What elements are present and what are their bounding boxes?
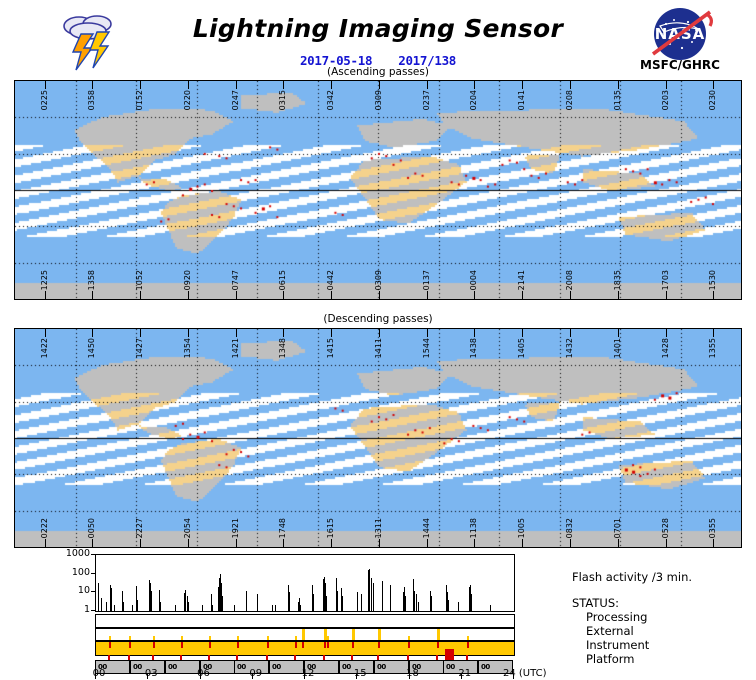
flash-activity-bar xyxy=(257,594,258,611)
descending-top-tick xyxy=(570,329,571,337)
y-axis-tick-label: 100 xyxy=(50,567,90,578)
external-status-spike xyxy=(209,636,211,640)
x-axis-tick-label: 15 xyxy=(347,668,373,679)
descending-top-label: 1355 xyxy=(709,338,717,358)
flash-activity-bar xyxy=(371,578,372,611)
ascending-bottom-label: 1530 xyxy=(709,270,717,290)
external-status-spike xyxy=(237,636,239,640)
descending-bottom-label: 0528 xyxy=(662,518,670,538)
flash-activity-legend: Flash activity /3 min. xyxy=(572,570,692,584)
instrument-status-mark xyxy=(267,642,269,648)
ascending-bottom-label: 0137 xyxy=(423,270,431,290)
ascending-bottom-tick xyxy=(379,291,380,299)
ascending-bottom-label: 1225 xyxy=(41,270,49,290)
platform-event-marker xyxy=(323,655,325,660)
descending-bottom-tick xyxy=(331,539,332,547)
flash-activity-bar xyxy=(405,596,406,611)
ascending-top-tick xyxy=(331,81,332,89)
descending-bottom-tick xyxy=(570,539,571,547)
platform-event-marker xyxy=(180,655,182,660)
descending-top-tick xyxy=(236,329,237,337)
agency-label: MSFC/GHRC xyxy=(620,58,740,72)
descending-bottom-label: 2227 xyxy=(136,518,144,538)
flash-activity-bar xyxy=(300,605,301,611)
ascending-top-tick xyxy=(427,81,428,89)
legend-processing: Processing xyxy=(586,610,647,624)
descending-top-tick xyxy=(427,329,428,337)
flash-activity-bar xyxy=(188,602,189,611)
page-header: Lightning Imaging Sensor 2017-05-182017/… xyxy=(0,0,756,78)
ascending-top-label: 0247 xyxy=(232,90,240,110)
platform-event-marker xyxy=(407,655,409,660)
flash-activity-bar xyxy=(313,594,314,611)
descending-bottom-label: 1138 xyxy=(470,518,478,538)
external-status-spike xyxy=(181,636,183,640)
ascending-bottom-tick xyxy=(283,291,284,299)
flash-activity-bar xyxy=(123,602,124,611)
platform-event-marker xyxy=(236,655,238,660)
external-status-spike xyxy=(352,629,355,640)
platform-event-marker xyxy=(351,655,353,660)
descending-top-label: 1450 xyxy=(88,338,96,358)
flash-activity-bar xyxy=(202,605,203,611)
descending-top-tick xyxy=(474,329,475,337)
instrument-status-mark xyxy=(237,642,239,648)
descending-bottom-tick xyxy=(666,539,667,547)
ascending-top-label: 0230 xyxy=(709,90,717,110)
y-axis-tick-label: 1 xyxy=(50,604,90,615)
external-status-spike xyxy=(109,636,111,640)
instrument-status-mark xyxy=(181,642,183,648)
descending-bottom-tick xyxy=(283,539,284,547)
descending-bottom-label: 1444 xyxy=(423,518,431,538)
platform-event-marker xyxy=(466,655,468,660)
flash-activity-bar xyxy=(132,605,133,611)
ascending-top-tick xyxy=(379,81,380,89)
platform-event-marker xyxy=(128,655,130,660)
descending-bottom-label: 0701 xyxy=(614,518,622,538)
ascending-bottom-label: 2141 xyxy=(518,270,526,290)
flash-activity-bar xyxy=(234,605,235,611)
descending-bottom-label: 1311 xyxy=(375,518,383,538)
instrument-status-mark xyxy=(302,642,304,648)
flash-activity-bar xyxy=(289,592,290,611)
external-status-spike xyxy=(129,636,131,640)
ascending-bottom-tick xyxy=(427,291,428,299)
flash-activity-bar xyxy=(160,602,161,611)
descending-top-tick xyxy=(283,329,284,337)
descending-bottom-tick xyxy=(474,539,475,547)
ascending-top-label: 0225 xyxy=(41,90,49,110)
flash-activity-bar xyxy=(98,583,99,611)
platform-cell-label: 00 xyxy=(375,663,386,671)
flash-activity-bar xyxy=(175,605,176,611)
descending-top-tick xyxy=(45,329,46,337)
ascending-top-tick xyxy=(283,81,284,89)
ascending-top-tick xyxy=(236,81,237,89)
ascending-top-tick xyxy=(570,81,571,89)
descending-bottom-tick xyxy=(427,539,428,547)
descending-bottom-tick xyxy=(379,539,380,547)
flash-activity-bar xyxy=(326,596,327,611)
ascending-bottom-tick xyxy=(713,291,714,299)
flash-activity-bar xyxy=(106,602,107,611)
ascending-top-tick xyxy=(45,81,46,89)
map-ascending-passes[interactable]: 0225035801520220024703150342030902370204… xyxy=(14,80,742,300)
flash-activity-bar xyxy=(361,594,362,611)
instrument-status-mark xyxy=(352,642,354,648)
platform-event-marker xyxy=(208,655,210,660)
platform-major-event xyxy=(445,649,454,660)
flash-activity-panel: 1101001000 000000000000000000000000 0003… xyxy=(0,552,756,680)
descending-bottom-label: 1921 xyxy=(232,518,240,538)
platform-event-marker xyxy=(266,655,268,660)
ascending-bottom-label: 0309 xyxy=(375,270,383,290)
descending-top-label: 1415 xyxy=(327,338,335,358)
external-status-spike xyxy=(327,636,329,640)
instrument-status-mark xyxy=(467,642,469,648)
flash-activity-bar xyxy=(275,605,276,611)
descending-bottom-label: 1005 xyxy=(518,518,526,538)
descending-top-label: 1422 xyxy=(41,338,49,358)
status-row-external xyxy=(95,628,515,641)
flash-activity-bar xyxy=(416,594,417,611)
flash-activity-bar xyxy=(390,585,391,611)
instrument-status-mark xyxy=(109,642,111,648)
flash-activity-bar xyxy=(337,591,338,611)
flash-activity-bar xyxy=(111,588,112,611)
descending-bottom-label: 0832 xyxy=(566,518,574,538)
external-status-spike xyxy=(467,636,469,640)
flash-activity-bar xyxy=(471,594,472,611)
descending-top-label: 1421 xyxy=(232,338,240,358)
descending-bottom-label: 1748 xyxy=(279,518,287,538)
flash-activity-bar xyxy=(414,591,415,611)
ascending-top-label: 0237 xyxy=(423,90,431,110)
ascending-top-tick xyxy=(618,81,619,89)
x-axis-tick-label: 12 xyxy=(295,668,321,679)
ascending-bottom-label: 1703 xyxy=(662,270,670,290)
platform-event-marker xyxy=(108,655,110,660)
flash-activity-bar xyxy=(458,602,459,611)
x-axis-tick-label: 18 xyxy=(400,668,426,679)
ascending-bottom-label: 0920 xyxy=(184,270,192,290)
flash-activity-bar xyxy=(137,600,138,611)
ascending-bottom-tick xyxy=(45,291,46,299)
ascending-bottom-tick xyxy=(570,291,571,299)
ascending-top-label: 0315 xyxy=(279,90,287,110)
instrument-status-mark xyxy=(153,642,155,648)
ascending-top-tick xyxy=(140,81,141,89)
ascending-bottom-label: 0747 xyxy=(232,270,240,290)
flash-activity-bar xyxy=(151,591,152,611)
descending-bottom-tick xyxy=(618,539,619,547)
ascending-bottom-label: 1052 xyxy=(136,270,144,290)
ascending-top-label: 0141 xyxy=(518,90,526,110)
x-axis-tick-label: 21 xyxy=(452,668,478,679)
x-axis-tick-label: 00 xyxy=(86,668,112,679)
ascending-bottom-tick xyxy=(140,291,141,299)
ascending-top-tick xyxy=(522,81,523,89)
descending-bottom-tick xyxy=(188,539,189,547)
platform-event-marker xyxy=(436,655,438,660)
descending-bottom-tick xyxy=(236,539,237,547)
descending-top-label: 1405 xyxy=(518,338,526,358)
flash-activity-bar xyxy=(369,569,370,611)
flash-activity-bar xyxy=(101,598,102,611)
flash-activity-bar xyxy=(382,581,383,611)
flash-activity-bar xyxy=(212,605,213,611)
ascending-top-tick xyxy=(474,81,475,89)
flash-activity-bar xyxy=(114,605,115,611)
ascending-top-label: 0135 xyxy=(614,90,622,110)
descending-bottom-tick xyxy=(140,539,141,547)
platform-event-marker xyxy=(377,655,379,660)
ascending-bottom-tick xyxy=(522,291,523,299)
flash-activity-bar xyxy=(357,592,358,611)
ascending-bottom-label: 1358 xyxy=(88,270,96,290)
instrument-status-mark xyxy=(209,642,211,648)
instrument-status-mark xyxy=(324,642,326,648)
x-axis-tick-label: 06 xyxy=(191,668,217,679)
descending-bottom-tick xyxy=(713,539,714,547)
external-status-spike xyxy=(295,636,297,640)
y-axis-tick-label: 1000 xyxy=(50,548,90,559)
flash-activity-bar xyxy=(490,605,491,611)
ascending-top-label: 0152 xyxy=(136,90,144,110)
y-axis-tick-label: 10 xyxy=(50,585,90,596)
external-status-spike xyxy=(153,636,155,640)
platform-cell-label: 00 xyxy=(270,663,281,671)
external-status-spike xyxy=(378,629,381,640)
ascending-bottom-tick xyxy=(236,291,237,299)
ascending-top-tick xyxy=(666,81,667,89)
ascending-top-tick xyxy=(92,81,93,89)
descending-top-label: 1401 xyxy=(614,338,622,358)
external-status-spike xyxy=(437,629,440,640)
descending-top-label: 1354 xyxy=(184,338,192,358)
descending-bottom-label: 0222 xyxy=(41,518,49,538)
x-axis-tick-label: 03 xyxy=(138,668,164,679)
descending-top-tick xyxy=(379,329,380,337)
ascending-bottom-label: 1835 xyxy=(614,270,622,290)
descending-top-tick xyxy=(188,329,189,337)
ascending-bottom-label: 0615 xyxy=(279,270,287,290)
map-descending-passes[interactable]: 1422145014271354142113481415141115441438… xyxy=(14,328,742,548)
descending-top-label: 1427 xyxy=(136,338,144,358)
descending-bottom-tick xyxy=(45,539,46,547)
platform-cell-label: 00 xyxy=(166,663,177,671)
x-axis-tick-label: 09 xyxy=(243,668,269,679)
flash-activity-bar xyxy=(342,596,343,611)
ascending-bottom-tick xyxy=(188,291,189,299)
ascending-bottom-tick xyxy=(92,291,93,299)
ascending-bottom-label: 0004 xyxy=(470,270,478,290)
flash-activity-bar xyxy=(418,602,419,611)
platform-event-marker xyxy=(152,655,154,660)
external-status-spike xyxy=(267,636,269,640)
descending-top-tick xyxy=(713,329,714,337)
ascending-top-label: 0203 xyxy=(662,90,670,110)
ascending-top-tick xyxy=(188,81,189,89)
external-status-spike xyxy=(408,636,410,640)
descending-top-label: 1438 xyxy=(470,338,478,358)
descending-top-label: 1411 xyxy=(375,338,383,358)
descending-bottom-label: 1615 xyxy=(327,518,335,538)
flash-activity-bar xyxy=(246,591,247,611)
legend-platform: Platform xyxy=(586,652,635,666)
legend-instrument: Instrument xyxy=(586,638,649,652)
instrument-status-mark xyxy=(408,642,410,648)
flash-activity-bar xyxy=(448,600,449,611)
descending-bottom-label: 0050 xyxy=(88,518,96,538)
ascending-bottom-tick xyxy=(618,291,619,299)
descending-top-tick xyxy=(522,329,523,337)
platform-cell-label: 00 xyxy=(479,663,490,671)
ascending-top-label: 0220 xyxy=(184,90,192,110)
flash-activity-bar xyxy=(185,590,186,611)
descending-bottom-tick xyxy=(522,539,523,547)
ascending-top-label: 0204 xyxy=(470,90,478,110)
descending-caption: (Descending passes) xyxy=(0,313,756,325)
ascending-top-label: 0208 xyxy=(566,90,574,110)
flash-activity-bar xyxy=(373,583,374,611)
descending-top-label: 1348 xyxy=(279,338,287,358)
descending-top-tick xyxy=(618,329,619,337)
descending-top-tick xyxy=(92,329,93,337)
flash-activity-plot[interactable] xyxy=(95,554,515,612)
ascending-top-label: 0342 xyxy=(327,90,335,110)
instrument-status-mark xyxy=(437,642,439,648)
descending-top-tick xyxy=(666,329,667,337)
flash-activity-bar xyxy=(222,596,223,611)
descending-top-label: 1432 xyxy=(566,338,574,358)
status-row-processing xyxy=(95,614,515,628)
descending-bottom-tick xyxy=(92,539,93,547)
descending-top-tick xyxy=(331,329,332,337)
ascending-top-label: 0358 xyxy=(88,90,96,110)
descending-top-tick xyxy=(140,329,141,337)
platform-event-marker xyxy=(294,655,296,660)
legend-external: External xyxy=(586,624,634,638)
instrument-status-mark xyxy=(378,642,380,648)
instrument-status-mark xyxy=(327,642,329,648)
instrument-status-mark xyxy=(295,642,297,648)
flash-activity-bar xyxy=(431,596,432,611)
ascending-top-tick xyxy=(713,81,714,89)
flash-activity-bar xyxy=(272,605,273,611)
descending-bottom-label: 2054 xyxy=(184,518,192,538)
external-status-spike xyxy=(302,629,305,640)
descending-bottom-label: 0355 xyxy=(709,518,717,538)
ascending-bottom-tick xyxy=(666,291,667,299)
instrument-status-mark xyxy=(129,642,131,648)
x-axis-tick-label: 24 (UTC) xyxy=(503,668,563,679)
ascending-bottom-tick xyxy=(331,291,332,299)
descending-top-label: 1428 xyxy=(662,338,670,358)
status-legend-title: STATUS: xyxy=(572,596,619,610)
ascending-top-label: 0309 xyxy=(375,90,383,110)
ascending-bottom-tick xyxy=(474,291,475,299)
descending-top-label: 1544 xyxy=(423,338,431,358)
ascending-bottom-label: 0442 xyxy=(327,270,335,290)
ascending-bottom-label: 2008 xyxy=(566,270,574,290)
